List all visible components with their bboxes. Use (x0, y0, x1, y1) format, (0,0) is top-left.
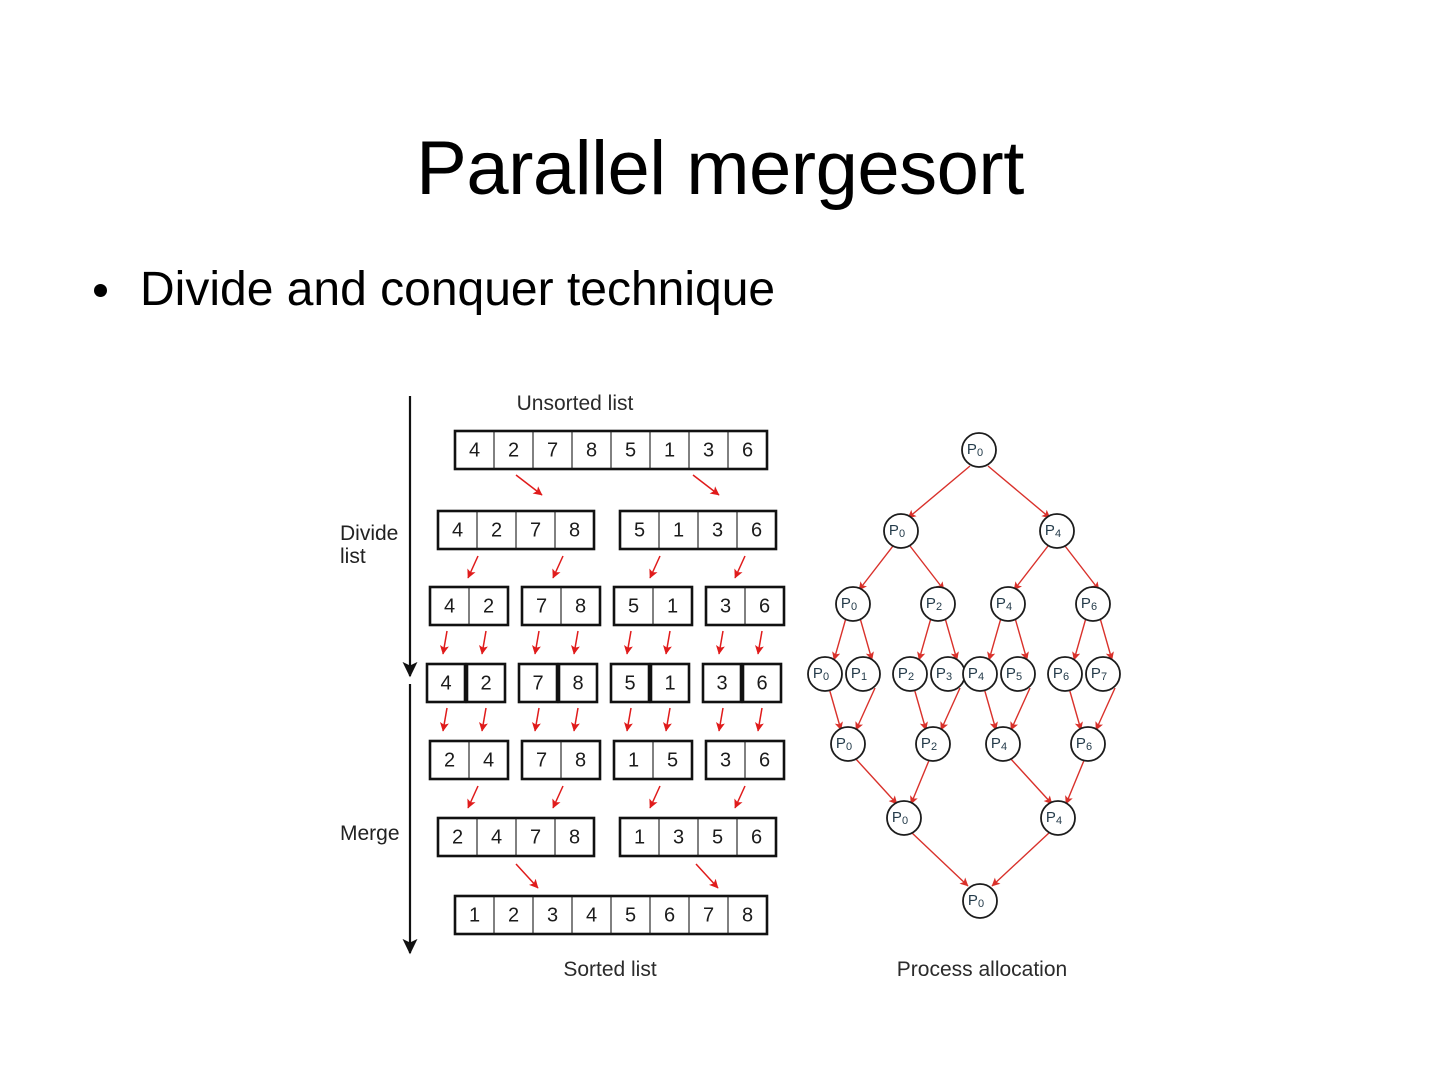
divide-arrows-level-3 (443, 631, 762, 654)
tree-node: P2 (921, 587, 955, 621)
cell-value: 4 (491, 827, 502, 849)
cell-value: 5 (634, 520, 645, 542)
list-item: Divide and conquer technique (78, 262, 1358, 319)
cell-value: 5 (624, 673, 635, 695)
cell-value: 6 (759, 596, 770, 618)
cell-value: 6 (751, 520, 762, 542)
tree-node: P0 (963, 884, 997, 918)
cell-value: 2 (452, 827, 463, 849)
cell-value: 7 (532, 673, 543, 695)
table-row: 4 2 7 8 5 1 3 6 (430, 587, 784, 625)
tree-node: P0 (884, 514, 918, 548)
table-row: 4 2 7 8 5 1 3 6 (427, 664, 781, 702)
bullet-item-label: Divide and conquer technique (140, 263, 775, 316)
mergesort-figure: Unsorted list Divide list Merge (310, 378, 1160, 998)
cell-value: 8 (569, 827, 580, 849)
tree-node: P4 (1040, 514, 1074, 548)
table-row: 4 2 7 8 5 1 3 6 (438, 511, 776, 549)
merge-arrows-level-2 (468, 786, 745, 808)
cell-value: 7 (536, 596, 547, 618)
tree-node: P2 (916, 727, 950, 761)
cell-value: 5 (625, 440, 636, 462)
cell-value: 5 (628, 596, 639, 618)
tree-node: P0 (831, 727, 865, 761)
tree-node: P1 (846, 657, 880, 691)
tree-node: P0 (836, 587, 870, 621)
cell-value: 1 (628, 750, 639, 772)
table-row: 1 2 3 4 5 6 7 8 (455, 896, 767, 934)
cell-value: 4 (483, 750, 494, 772)
cell-value: 4 (586, 905, 597, 927)
cell-value: 8 (575, 750, 586, 772)
cell-value: 1 (469, 905, 480, 927)
cell-value: 6 (742, 440, 753, 462)
cell-value: 1 (664, 673, 675, 695)
cell-value: 4 (469, 440, 480, 462)
process-allocation-caption: Process allocation (897, 958, 1067, 981)
cell-value: 5 (712, 827, 723, 849)
bullet-list: Divide and conquer technique (78, 262, 1358, 319)
divide-arrows-level-1 (516, 475, 719, 495)
cell-value: 3 (720, 596, 731, 618)
tree-node: P5 (1001, 657, 1035, 691)
cell-value: 5 (625, 905, 636, 927)
cell-value: 7 (530, 520, 541, 542)
table-row: 2 4 7 8 1 3 5 6 (438, 818, 776, 856)
table-row: 2 4 7 8 1 5 3 6 (430, 741, 784, 779)
tree-node: P7 (1086, 657, 1120, 691)
cell-value: 8 (586, 440, 597, 462)
cell-value: 6 (664, 905, 675, 927)
cell-value: 3 (673, 827, 684, 849)
cell-value: 2 (508, 905, 519, 927)
cell-value: 8 (575, 596, 586, 618)
cell-value: 7 (547, 440, 558, 462)
cell-value: 6 (759, 750, 770, 772)
cell-value: 4 (440, 673, 451, 695)
tree-node: P6 (1048, 657, 1082, 691)
page-title: Parallel mergesort (0, 129, 1440, 209)
tree-node: P4 (1041, 801, 1075, 835)
sorted-list-caption: Sorted list (563, 958, 657, 981)
merge-phase-label-line1: Merge (340, 822, 400, 845)
cell-value: 2 (491, 520, 502, 542)
cell-value: 4 (444, 596, 455, 618)
cell-value: 7 (530, 827, 541, 849)
tree-node: P0 (962, 433, 996, 467)
divide-phase-label-line1: Divide (340, 522, 398, 545)
tree-node: P4 (986, 727, 1020, 761)
tree-node: P4 (991, 587, 1025, 621)
cell-value: 2 (444, 750, 455, 772)
cell-value: 1 (673, 520, 684, 542)
merge-arrows-level-1 (443, 708, 762, 731)
merge-arrows-level-3 (516, 864, 718, 888)
cell-value: 3 (716, 673, 727, 695)
divide-arrows-level-2 (468, 556, 745, 578)
table-row: 4 2 7 8 5 1 3 6 (455, 431, 767, 469)
cell-value: 5 (667, 750, 678, 772)
cell-value: 1 (667, 596, 678, 618)
tree-node: P6 (1071, 727, 1105, 761)
cell-value: 3 (720, 750, 731, 772)
slide-canvas: Parallel mergesort Divide and conquer te… (0, 0, 1440, 1080)
cell-value: 3 (547, 905, 558, 927)
cell-value: 1 (634, 827, 645, 849)
process-allocation-tree: P0 P0 P4 P0 P2 (808, 433, 1120, 918)
cell-value: 2 (508, 440, 519, 462)
tree-node: P3 (931, 657, 965, 691)
merge-phase-label: Merge (340, 822, 400, 845)
cell-value: 3 (712, 520, 723, 542)
mergesort-figure-svg: Unsorted list Divide list Merge (310, 378, 1160, 998)
cell-value: 2 (480, 673, 491, 695)
cell-value: 2 (483, 596, 494, 618)
cell-value: 7 (536, 750, 547, 772)
divide-phase-label: Divide list (340, 522, 398, 568)
tree-node: P2 (893, 657, 927, 691)
tree-node: P0 (808, 657, 842, 691)
cell-value: 7 (703, 905, 714, 927)
cell-value: 3 (703, 440, 714, 462)
cell-value: 8 (742, 905, 753, 927)
unsorted-list-caption: Unsorted list (517, 392, 634, 415)
cell-value: 4 (452, 520, 463, 542)
tree-node: P6 (1076, 587, 1110, 621)
tree-node: P4 (963, 657, 997, 691)
cell-value: 6 (756, 673, 767, 695)
cell-value: 1 (664, 440, 675, 462)
cell-value: 8 (569, 520, 580, 542)
divide-phase-label-line2: list (340, 545, 366, 568)
cell-value: 8 (572, 673, 583, 695)
bullet-dot-icon (94, 284, 107, 297)
tree-node: P0 (887, 801, 921, 835)
cell-value: 6 (751, 827, 762, 849)
